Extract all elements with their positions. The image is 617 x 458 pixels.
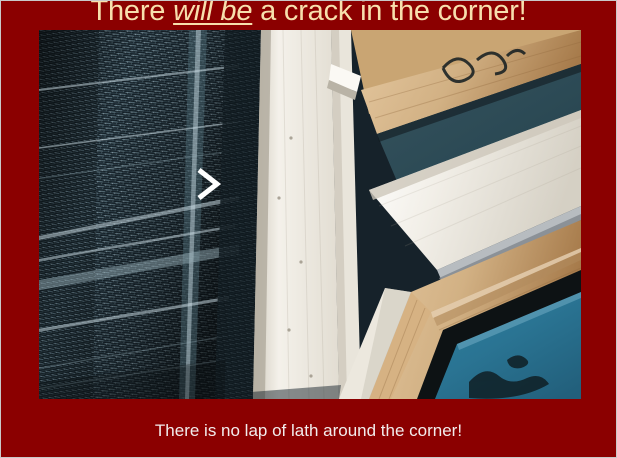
- photo-artwork: [39, 30, 581, 399]
- photo-image: [39, 30, 581, 399]
- title-part-2: a crack in the corner!: [252, 0, 526, 27]
- title-part-1: There: [90, 0, 173, 27]
- slide-canvas: There will be a crack in the corner!: [0, 0, 617, 458]
- slide-caption: There is no lap of lath around the corne…: [1, 419, 616, 443]
- title-emphasis: will be: [173, 0, 252, 27]
- slide-title: There will be a crack in the corner!: [1, 0, 616, 28]
